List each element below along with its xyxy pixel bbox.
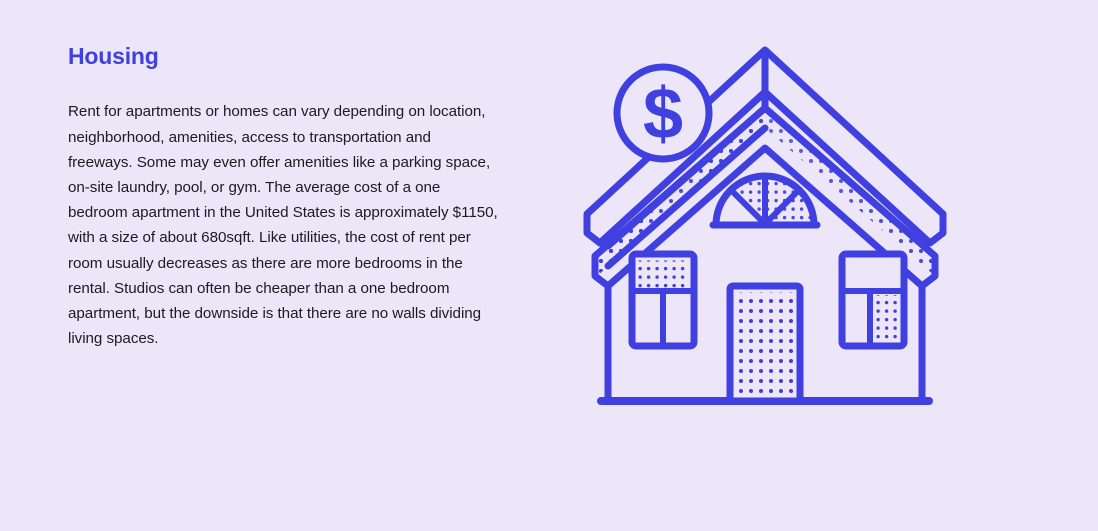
- text-column: Housing Rent for apartments or homes can…: [68, 44, 500, 351]
- dollar-sign-glyph: $: [643, 74, 683, 154]
- house-illustration: $: [578, 28, 958, 428]
- front-door: [730, 286, 800, 401]
- house-illustration-svg: $: [578, 28, 958, 428]
- housing-section: Housing Rent for apartments or homes can…: [0, 0, 1098, 531]
- dollar-coin-icon: $: [617, 67, 709, 159]
- right-window: [842, 254, 904, 346]
- left-window: [632, 254, 694, 346]
- page-title: Housing: [68, 44, 500, 69]
- body-paragraph: Rent for apartments or homes can vary de…: [68, 99, 498, 351]
